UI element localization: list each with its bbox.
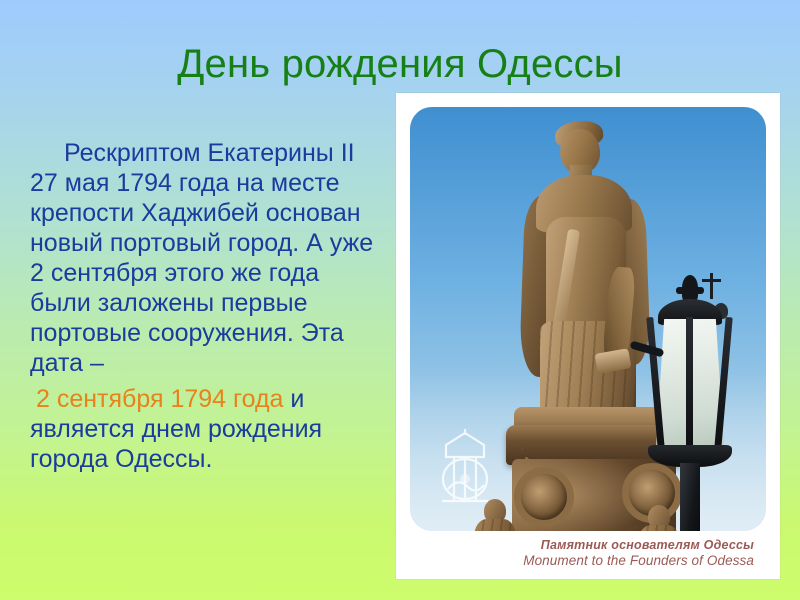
photo-caption-ru: Памятник основателям Одессы [410,537,754,553]
monument-photo [410,107,766,531]
photo-caption-en: Monument to the Founders of Odessa [410,553,754,569]
photo-frame: Памятник основателям Одессы Monument to … [396,93,780,579]
lamp-rib [686,317,693,449]
lamp-finial [682,275,698,301]
odessa-emblem-watermark-icon [424,427,506,523]
page-title: День рождения Одессы [0,42,800,86]
lamp-column [680,463,700,531]
highlight-date: 2 сентября 1794 года [36,385,283,413]
body-paragraph-1: Рескриптом Екатерины II 27 мая 1794 года… [30,138,382,378]
pedestal-scroll-left [514,467,574,527]
body-paragraph-2: 2 сентября 1794 года и является днем рож… [30,384,382,474]
slide-canvas: День рождения Одессы Рескриптом Екатерин… [0,0,800,600]
photo-caption: Памятник основателям Одессы Monument to … [410,537,766,569]
body-text-block: Рескриптом Екатерины II 27 мая 1794 года… [30,138,382,474]
lamp-post [636,275,748,531]
